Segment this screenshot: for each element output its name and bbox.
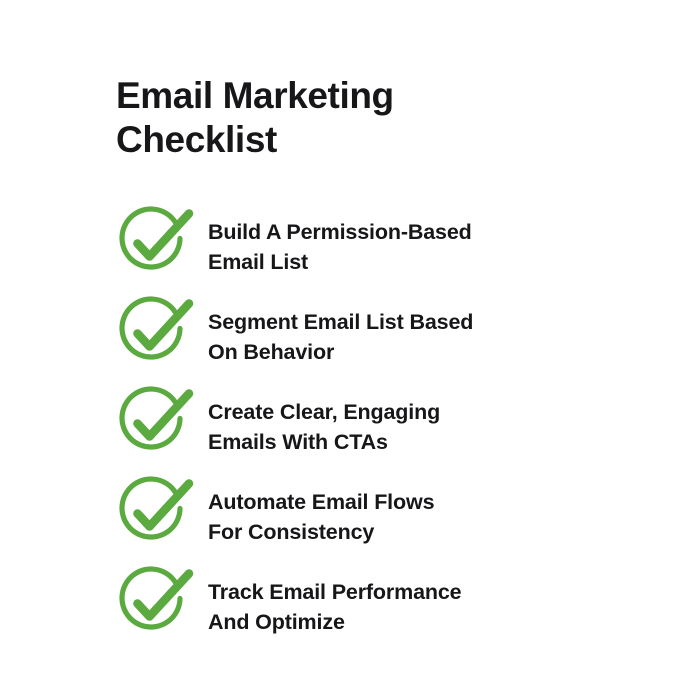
list-item[interactable]: Create Clear, Engaging Emails With CTAs	[118, 385, 588, 475]
list-item-line-2: Email List	[208, 247, 588, 277]
checklist: Build A Permission-Based Email List Segm…	[118, 205, 588, 655]
list-item-line-1: Automate Email Flows	[208, 487, 588, 517]
list-item-label: Segment Email List Based On Behavior	[208, 295, 588, 367]
list-item[interactable]: Build A Permission-Based Email List	[118, 205, 588, 295]
list-item[interactable]: Automate Email Flows For Consistency	[118, 475, 588, 565]
list-item-line-1: Build A Permission-Based	[208, 217, 588, 247]
check-circle-icon	[118, 297, 192, 371]
list-item-label: Track Email Performance And Optimize	[208, 565, 588, 637]
list-item[interactable]: Segment Email List Based On Behavior	[118, 295, 588, 385]
check-circle-icon	[118, 477, 192, 551]
checklist-poster: Email Marketing Checklist Build A Permis…	[0, 0, 700, 700]
list-item[interactable]: Track Email Performance And Optimize	[118, 565, 588, 655]
list-item-line-2: And Optimize	[208, 607, 588, 637]
page-title-line-1: Email Marketing	[116, 74, 586, 118]
check-circle-icon	[118, 207, 192, 281]
page-title: Email Marketing Checklist	[116, 74, 586, 162]
list-item-line-1: Segment Email List Based	[208, 307, 588, 337]
list-item-label: Automate Email Flows For Consistency	[208, 475, 588, 547]
check-circle-icon	[118, 567, 192, 641]
page-title-line-2: Checklist	[116, 118, 586, 162]
list-item-label: Build A Permission-Based Email List	[208, 205, 588, 277]
list-item-line-1: Create Clear, Engaging	[208, 397, 588, 427]
list-item-line-2: On Behavior	[208, 337, 588, 367]
list-item-line-1: Track Email Performance	[208, 577, 588, 607]
list-item-line-2: Emails With CTAs	[208, 427, 588, 457]
list-item-line-2: For Consistency	[208, 517, 588, 547]
list-item-label: Create Clear, Engaging Emails With CTAs	[208, 385, 588, 457]
check-circle-icon	[118, 387, 192, 461]
